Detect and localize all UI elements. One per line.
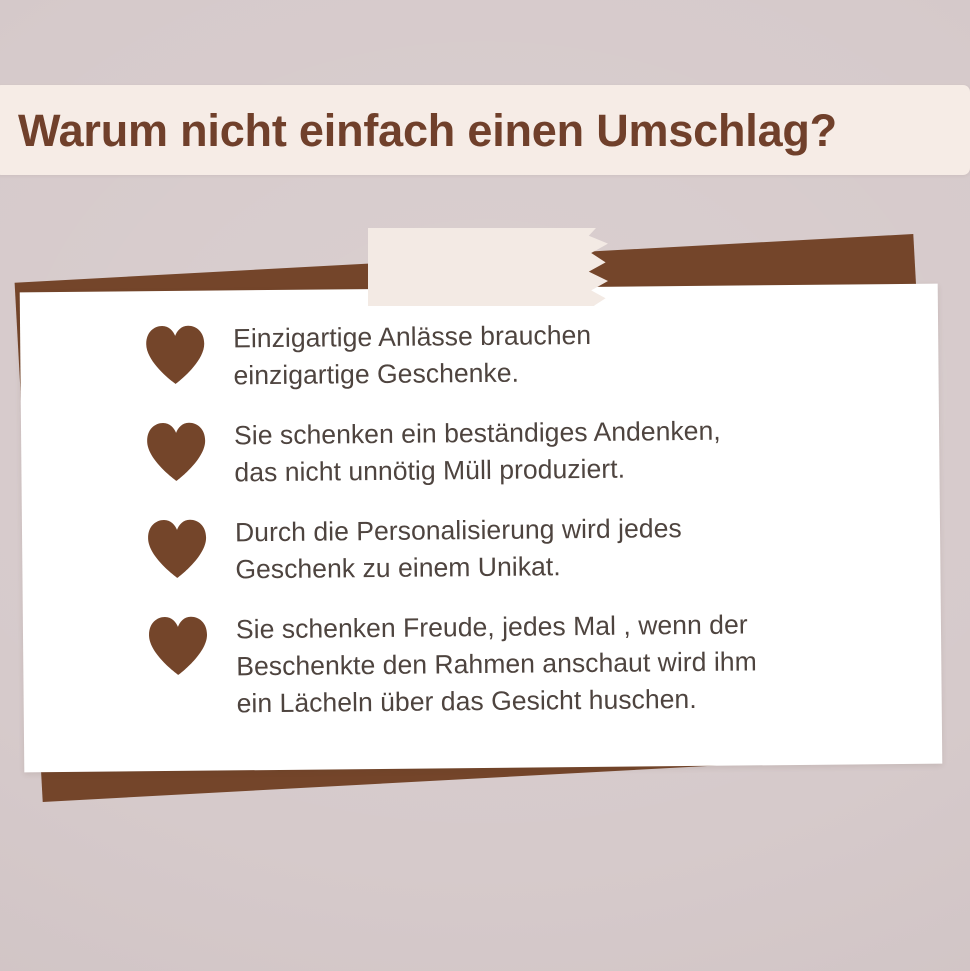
content-card: Einzigartige Anlässe brauchen einzigarti…: [20, 284, 943, 773]
text-line: Einzigartige Anlässe brauchen: [233, 317, 591, 357]
heart-icon: [146, 519, 209, 580]
text-line: das nicht unnötig Müll produziert.: [234, 449, 721, 490]
heart-icon: [147, 616, 210, 677]
washi-tape: [368, 228, 608, 306]
list-item: Einzigartige Anlässe brauchen einzigarti…: [144, 312, 879, 394]
text-line: einzigartige Geschenke.: [233, 353, 591, 393]
list-item: Sie schenken ein beständiges Andenken, d…: [145, 409, 880, 491]
heart-icon: [145, 422, 208, 483]
title-banner: Warum nicht einfach einen Umschlag?: [0, 85, 970, 175]
text-line: ein Lächeln über das Gesicht huschen.: [236, 680, 757, 722]
text-line: Beschenkte den Rahmen anschaut wird ihm: [236, 643, 757, 685]
list-item-text: Sie schenken Freude, jedes Mal , wenn de…: [236, 605, 758, 722]
list-item-text: Sie schenken ein beständiges Andenken, d…: [234, 411, 721, 491]
poster-canvas: Warum nicht einfach einen Umschlag? Einz…: [0, 0, 970, 971]
page-title: Warum nicht einfach einen Umschlag?: [0, 108, 837, 153]
bullet-list: Einzigartige Anlässe brauchen einzigarti…: [144, 312, 882, 722]
list-item: Durch die Personalisierung wird jedes Ge…: [146, 506, 881, 588]
text-line: Durch die Personalisierung wird jedes: [235, 510, 682, 551]
list-item-text: Einzigartige Anlässe brauchen einzigarti…: [233, 315, 592, 394]
text-line: Geschenk zu einem Unikat.: [235, 547, 682, 588]
list-item: Sie schenken Freude, jedes Mal , wenn de…: [147, 604, 882, 723]
text-line: Sie schenken Freude, jedes Mal , wenn de…: [236, 607, 757, 649]
text-line: Sie schenken ein beständiges Andenken,: [234, 413, 721, 454]
heart-icon: [144, 325, 207, 386]
list-item-text: Durch die Personalisierung wird jedes Ge…: [235, 508, 682, 587]
